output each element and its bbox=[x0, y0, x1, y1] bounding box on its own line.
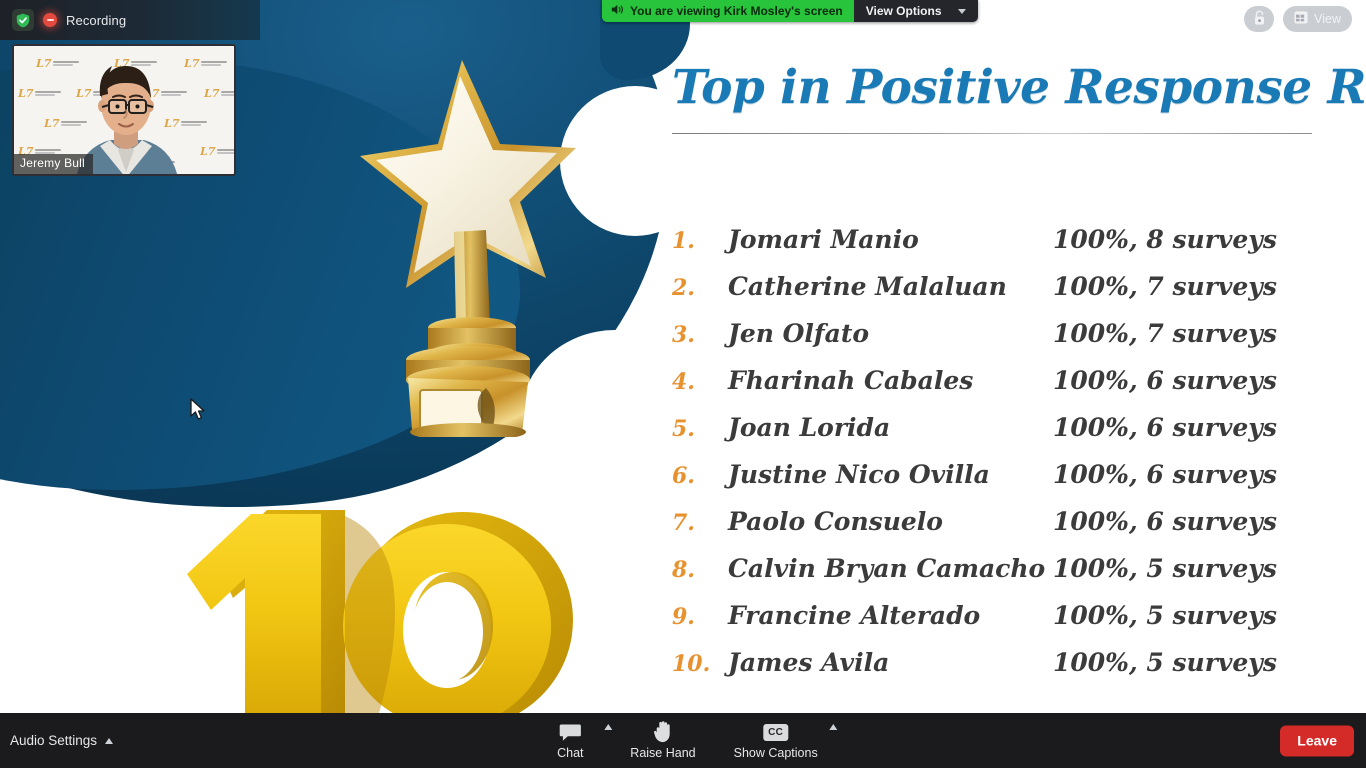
rank-score: 100%, 6 surveys bbox=[1053, 413, 1277, 442]
ranking-row: 4. Fharinah Cabales 100%, 6 surveys bbox=[672, 366, 1332, 413]
rank-score: 100%, 7 surveys bbox=[1053, 272, 1277, 301]
audio-settings-button[interactable]: Audio Settings bbox=[10, 713, 113, 768]
ranking-list: 1. Jomari Manio 100%, 8 surveys 2. Cathe… bbox=[672, 225, 1332, 695]
rank-name: Fharinah Cabales bbox=[728, 366, 1053, 395]
rank-number: 1. bbox=[672, 228, 728, 254]
rank-name: Jen Olfato bbox=[728, 319, 1053, 348]
toolbar-center-controls: Chat Raise Hand CC Show Captions bbox=[544, 713, 821, 768]
rank-number: 6. bbox=[672, 463, 728, 489]
chat-caret-icon[interactable] bbox=[604, 724, 612, 730]
rank-name: Justine Nico Ovilla bbox=[728, 460, 1053, 489]
viewing-screen-text: You are viewing Kirk Mosley's screen bbox=[630, 4, 843, 18]
unlock-meeting-button[interactable] bbox=[1244, 6, 1274, 32]
grid-icon bbox=[1294, 11, 1308, 27]
audio-settings-label: Audio Settings bbox=[10, 733, 97, 748]
chat-button[interactable]: Chat bbox=[544, 718, 596, 763]
rank-number: 2. bbox=[672, 275, 728, 301]
rank-number: 9. bbox=[672, 604, 728, 630]
leave-meeting-button[interactable]: Leave bbox=[1280, 725, 1354, 756]
participant-video-thumbnail[interactable]: L7 L7 L7 L7 L7 L7 L7 L7 L7 L7 L7 L7 bbox=[12, 44, 236, 176]
ranking-row: 6. Justine Nico Ovilla 100%, 6 surveys bbox=[672, 460, 1332, 507]
chat-label: Chat bbox=[557, 746, 583, 760]
rank-name: Francine Alterado bbox=[728, 601, 1053, 630]
ranking-row: 2. Catherine Malaluan 100%, 7 surveys bbox=[672, 272, 1332, 319]
recording-indicator-icon[interactable] bbox=[43, 13, 57, 27]
lock-icon bbox=[1253, 10, 1266, 29]
rank-score: 100%, 7 surveys bbox=[1053, 319, 1277, 348]
ranking-row: 8. Calvin Bryan Camacho 100%, 5 surveys bbox=[672, 554, 1332, 601]
chevron-up-icon[interactable] bbox=[105, 738, 113, 744]
ranking-row: 5. Joan Lorida 100%, 6 surveys bbox=[672, 413, 1332, 460]
gold-star-trophy-icon bbox=[350, 52, 580, 437]
screen-share-banner: You are viewing Kirk Mosley's screen Vie… bbox=[602, 0, 978, 22]
raised-hand-icon bbox=[653, 721, 672, 743]
cc-text: CC bbox=[763, 724, 788, 741]
meeting-toolbar: Audio Settings Chat Raise Ha bbox=[0, 713, 1366, 768]
rank-name: Calvin Bryan Camacho bbox=[728, 554, 1053, 583]
view-layout-button[interactable]: View bbox=[1283, 6, 1352, 32]
rank-score: 100%, 5 surveys bbox=[1053, 601, 1277, 630]
raise-hand-label: Raise Hand bbox=[630, 746, 695, 760]
participant-name-label: Jeremy Bull bbox=[14, 154, 93, 174]
rank-score: 100%, 6 surveys bbox=[1053, 366, 1277, 395]
rank-score: 100%, 8 surveys bbox=[1053, 225, 1277, 254]
zoom-meeting-window: Top in Positive Response Rate 1. Jomari … bbox=[0, 0, 1366, 768]
cc-icon: CC bbox=[763, 721, 788, 743]
captions-caret-icon[interactable] bbox=[830, 724, 838, 730]
speaker-icon bbox=[611, 4, 624, 18]
chevron-down-icon bbox=[958, 9, 966, 14]
recording-label: Recording bbox=[66, 13, 126, 28]
viewing-screen-notice: You are viewing Kirk Mosley's screen bbox=[602, 0, 854, 22]
ranking-row: 7. Paolo Consuelo 100%, 6 surveys bbox=[672, 507, 1332, 554]
view-button-label: View bbox=[1314, 12, 1341, 26]
encryption-shield-icon[interactable] bbox=[12, 9, 34, 31]
rank-name: Jomari Manio bbox=[728, 225, 1053, 254]
rank-score: 100%, 5 surveys bbox=[1053, 554, 1277, 583]
rank-score: 100%, 6 surveys bbox=[1053, 507, 1277, 536]
rank-name: Joan Lorida bbox=[728, 413, 1053, 442]
rank-name: James Avila bbox=[728, 648, 1053, 677]
rank-score: 100%, 5 surveys bbox=[1053, 648, 1277, 677]
top-right-controls: View bbox=[1244, 6, 1352, 32]
ranking-row: 3. Jen Olfato 100%, 7 surveys bbox=[672, 319, 1332, 366]
rank-number: 7. bbox=[672, 510, 728, 536]
ranking-row: 10. James Avila 100%, 5 surveys bbox=[672, 648, 1332, 695]
ranking-row: 9. Francine Alterado 100%, 5 surveys bbox=[672, 601, 1332, 648]
big-number-ten-decoration bbox=[95, 470, 605, 713]
rank-number: 5. bbox=[672, 416, 728, 442]
slide-title: Top in Positive Response Rate bbox=[672, 48, 1362, 126]
rank-name: Paolo Consuelo bbox=[728, 507, 1053, 536]
show-captions-label: Show Captions bbox=[734, 746, 818, 760]
view-options-button[interactable]: View Options bbox=[854, 0, 978, 22]
rank-number: 8. bbox=[672, 557, 728, 583]
top-bar-left: Recording bbox=[0, 0, 260, 40]
rank-number: 3. bbox=[672, 322, 728, 348]
ranking-row: 1. Jomari Manio 100%, 8 surveys bbox=[672, 225, 1332, 272]
rank-number: 4. bbox=[672, 369, 728, 395]
show-captions-button[interactable]: CC Show Captions bbox=[730, 718, 822, 763]
rank-name: Catherine Malaluan bbox=[728, 272, 1053, 301]
title-divider bbox=[672, 133, 1312, 134]
raise-hand-button[interactable]: Raise Hand bbox=[626, 718, 699, 763]
view-options-label: View Options bbox=[866, 4, 942, 18]
rank-score: 100%, 6 surveys bbox=[1053, 460, 1277, 489]
rank-number: 10. bbox=[672, 651, 728, 677]
chat-bubble-icon bbox=[559, 721, 581, 743]
